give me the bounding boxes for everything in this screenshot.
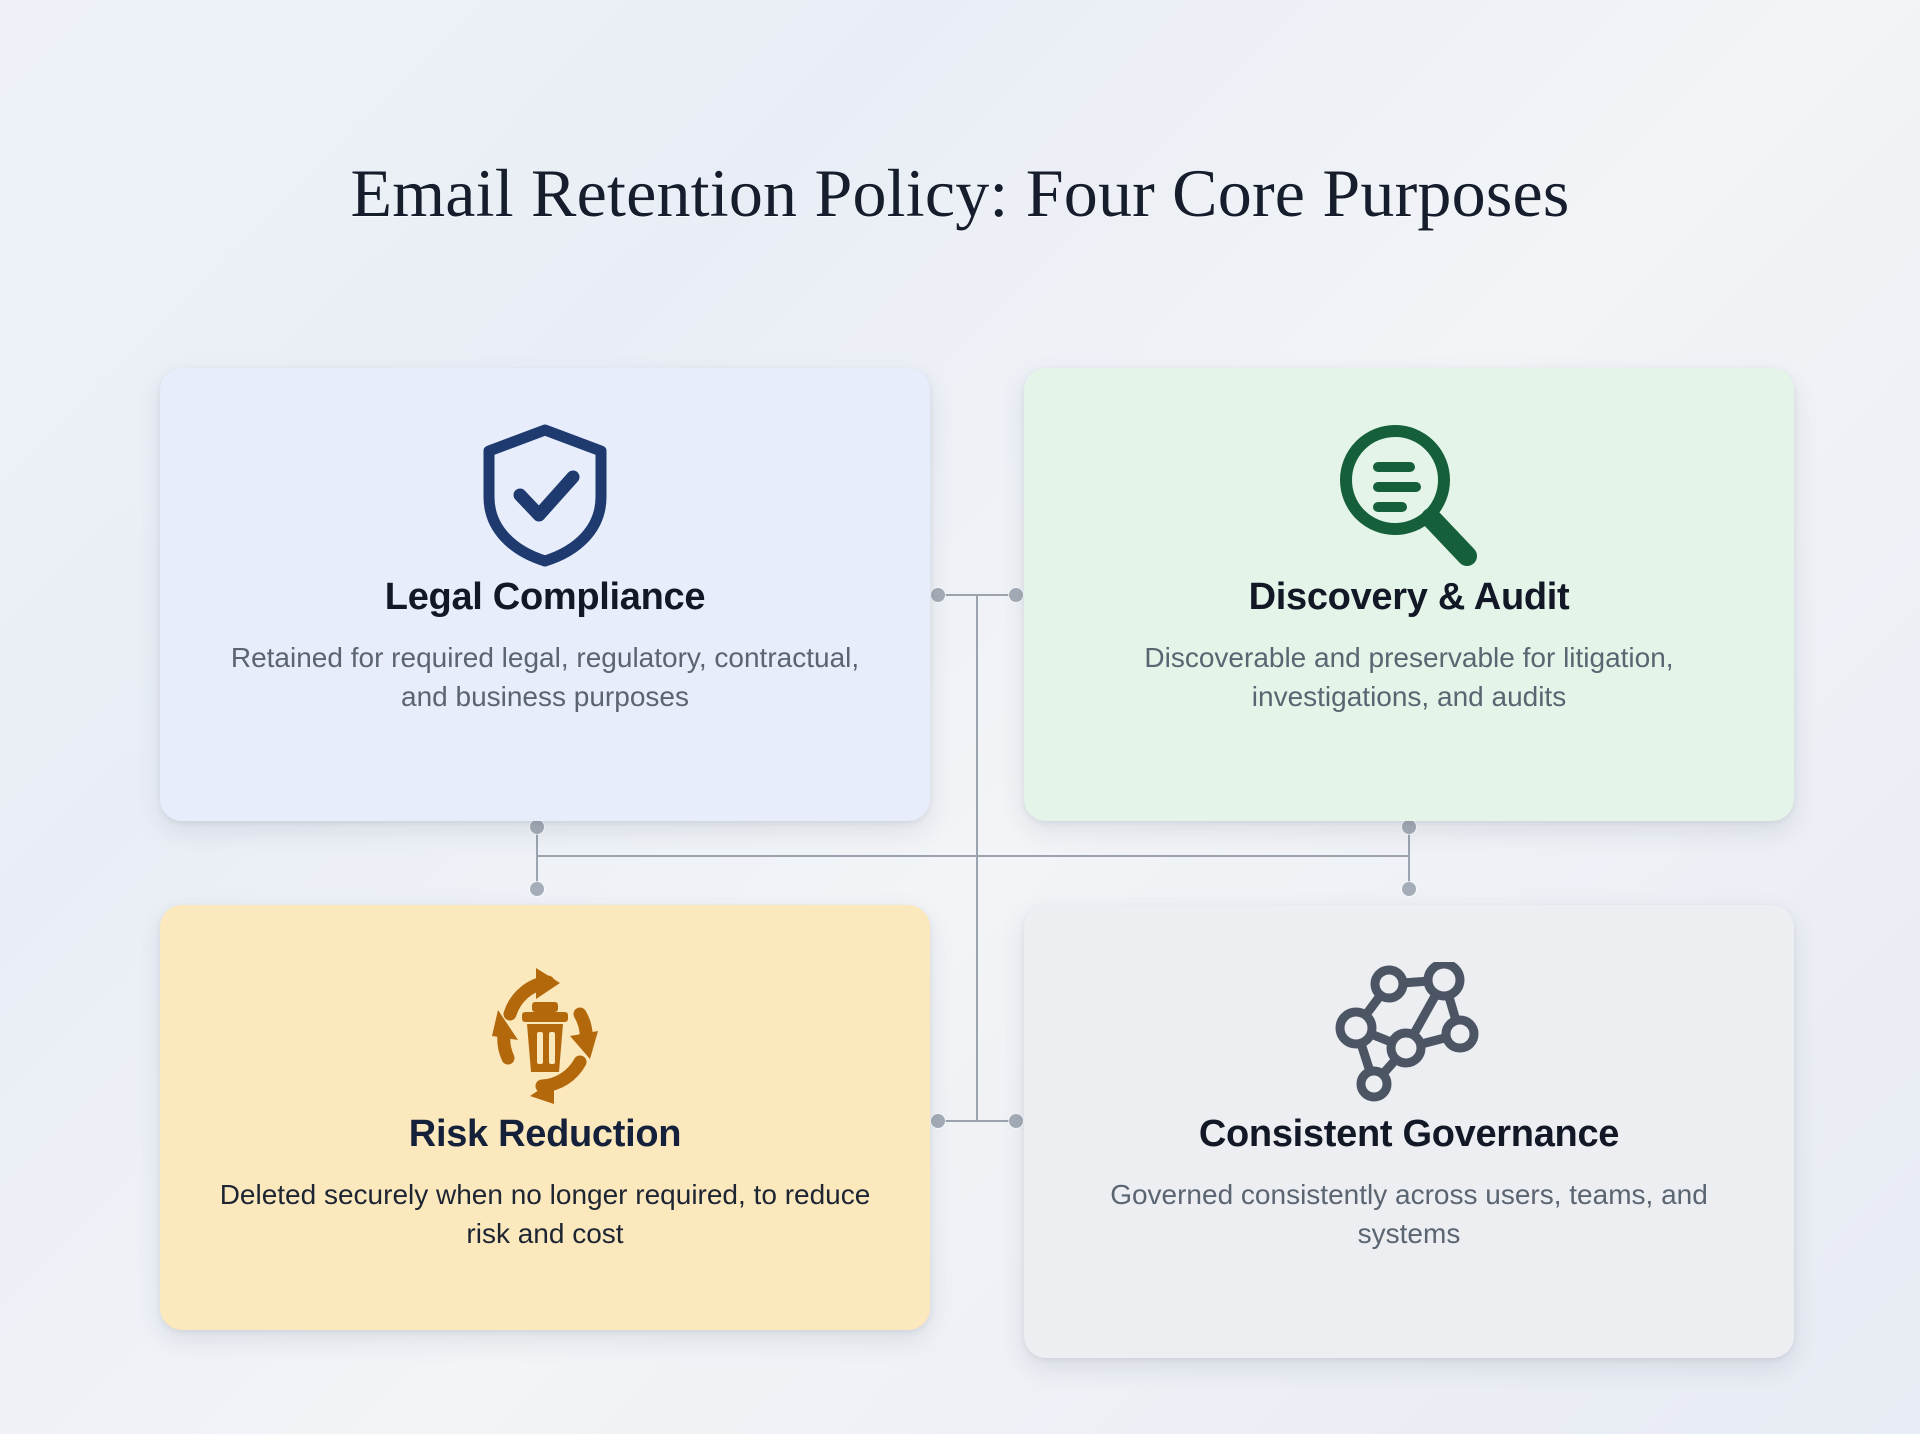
- card-discovery-audit[interactable]: Discovery & Audit Discoverable and prese…: [1024, 368, 1794, 821]
- connector-center-vertical: [976, 594, 978, 1122]
- card-legal-compliance[interactable]: Legal Compliance Retained for required l…: [160, 368, 930, 821]
- connector-dot-bottom-right: [1009, 1114, 1023, 1128]
- card-consistent-governance[interactable]: Consistent Governance Governed consisten…: [1024, 905, 1794, 1358]
- trash-recycle-icon: [470, 953, 620, 1111]
- connector-dot-top-left: [931, 588, 945, 602]
- connector-dot-left-upper: [530, 820, 544, 834]
- card-description: Discoverable and preservable for litigat…: [1078, 639, 1740, 716]
- card-title: Discovery & Audit: [1249, 576, 1570, 619]
- shield-check-icon: [476, 416, 614, 574]
- card-title: Consistent Governance: [1199, 1113, 1619, 1156]
- card-description: Retained for required legal, regulatory,…: [214, 639, 876, 716]
- connector-dot-right-upper: [1402, 820, 1416, 834]
- network-nodes-icon: [1334, 953, 1484, 1111]
- connector-right-vertical: [1408, 826, 1410, 888]
- connector-top-horizontal: [938, 594, 1016, 596]
- connector-dot-right-lower: [1402, 882, 1416, 896]
- page-title: Email Retention Policy: Four Core Purpos…: [0, 154, 1920, 233]
- connector-dot-bottom-left: [931, 1114, 945, 1128]
- card-title: Legal Compliance: [385, 576, 705, 619]
- connector-middle-horizontal: [537, 855, 1409, 857]
- connector-bottom-horizontal: [938, 1120, 1016, 1122]
- magnifying-glass-document-icon: [1333, 416, 1485, 574]
- card-description: Governed consistently across users, team…: [1078, 1176, 1740, 1253]
- card-title: Risk Reduction: [409, 1113, 681, 1156]
- diagram-canvas: Email Retention Policy: Four Core Purpos…: [0, 0, 1920, 1434]
- card-description: Deleted securely when no longer required…: [214, 1176, 876, 1253]
- connector-left-vertical: [536, 826, 538, 888]
- connector-dot-left-lower: [530, 882, 544, 896]
- connector-dot-top-right: [1009, 588, 1023, 602]
- card-risk-reduction[interactable]: Risk Reduction Deleted securely when no …: [160, 905, 930, 1330]
